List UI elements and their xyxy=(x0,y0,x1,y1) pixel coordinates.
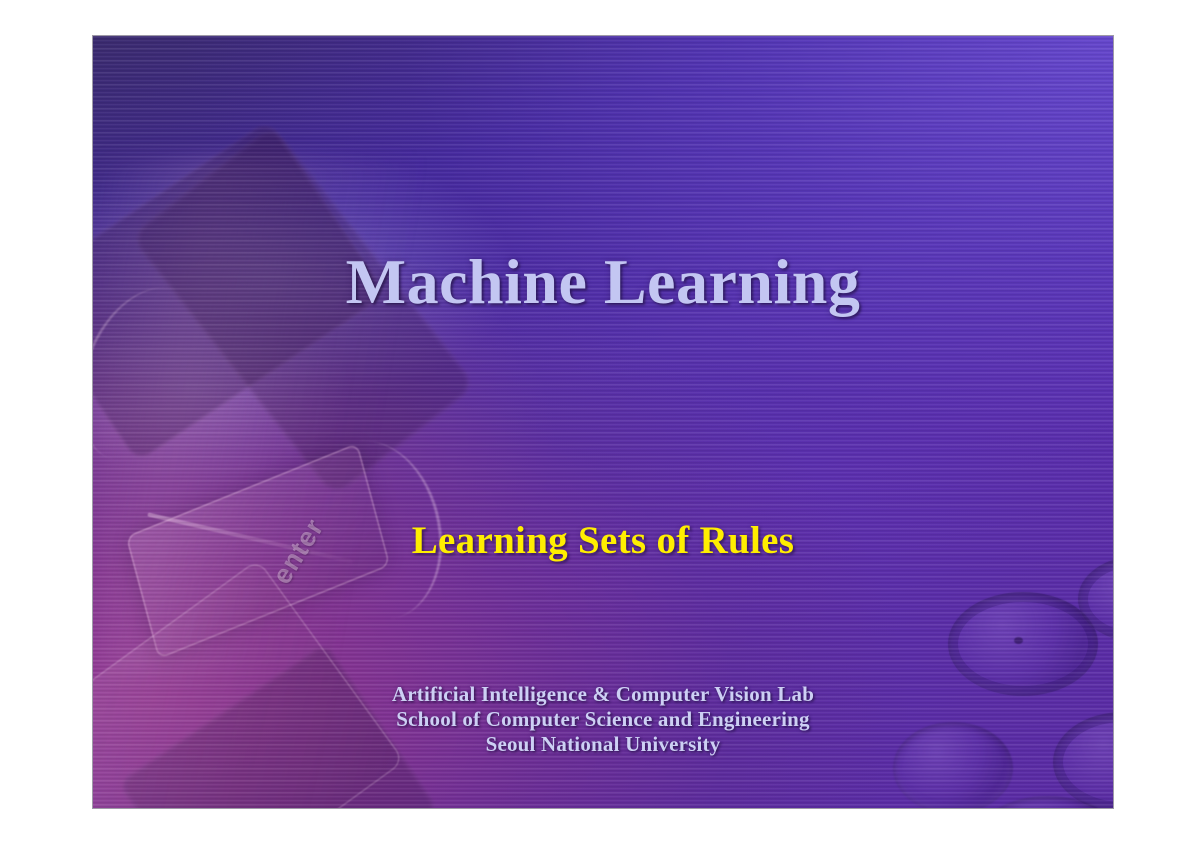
affiliation-line-university: Seoul National University xyxy=(93,732,1113,757)
title-slide: enter Machine Learning Learning Sets of … xyxy=(93,36,1113,808)
presentation-page: enter Machine Learning Learning Sets of … xyxy=(0,0,1200,849)
affiliation-line-lab: Artificial Intelligence & Computer Visio… xyxy=(93,682,1113,707)
slide-subtitle: Learning Sets of Rules xyxy=(93,520,1113,563)
slide-title: Machine Learning xyxy=(93,248,1113,315)
slide-text-layer: Machine Learning Learning Sets of Rules … xyxy=(93,36,1113,808)
affiliation-block: Artificial Intelligence & Computer Visio… xyxy=(93,682,1113,757)
affiliation-line-school: School of Computer Science and Engineeri… xyxy=(93,707,1113,732)
